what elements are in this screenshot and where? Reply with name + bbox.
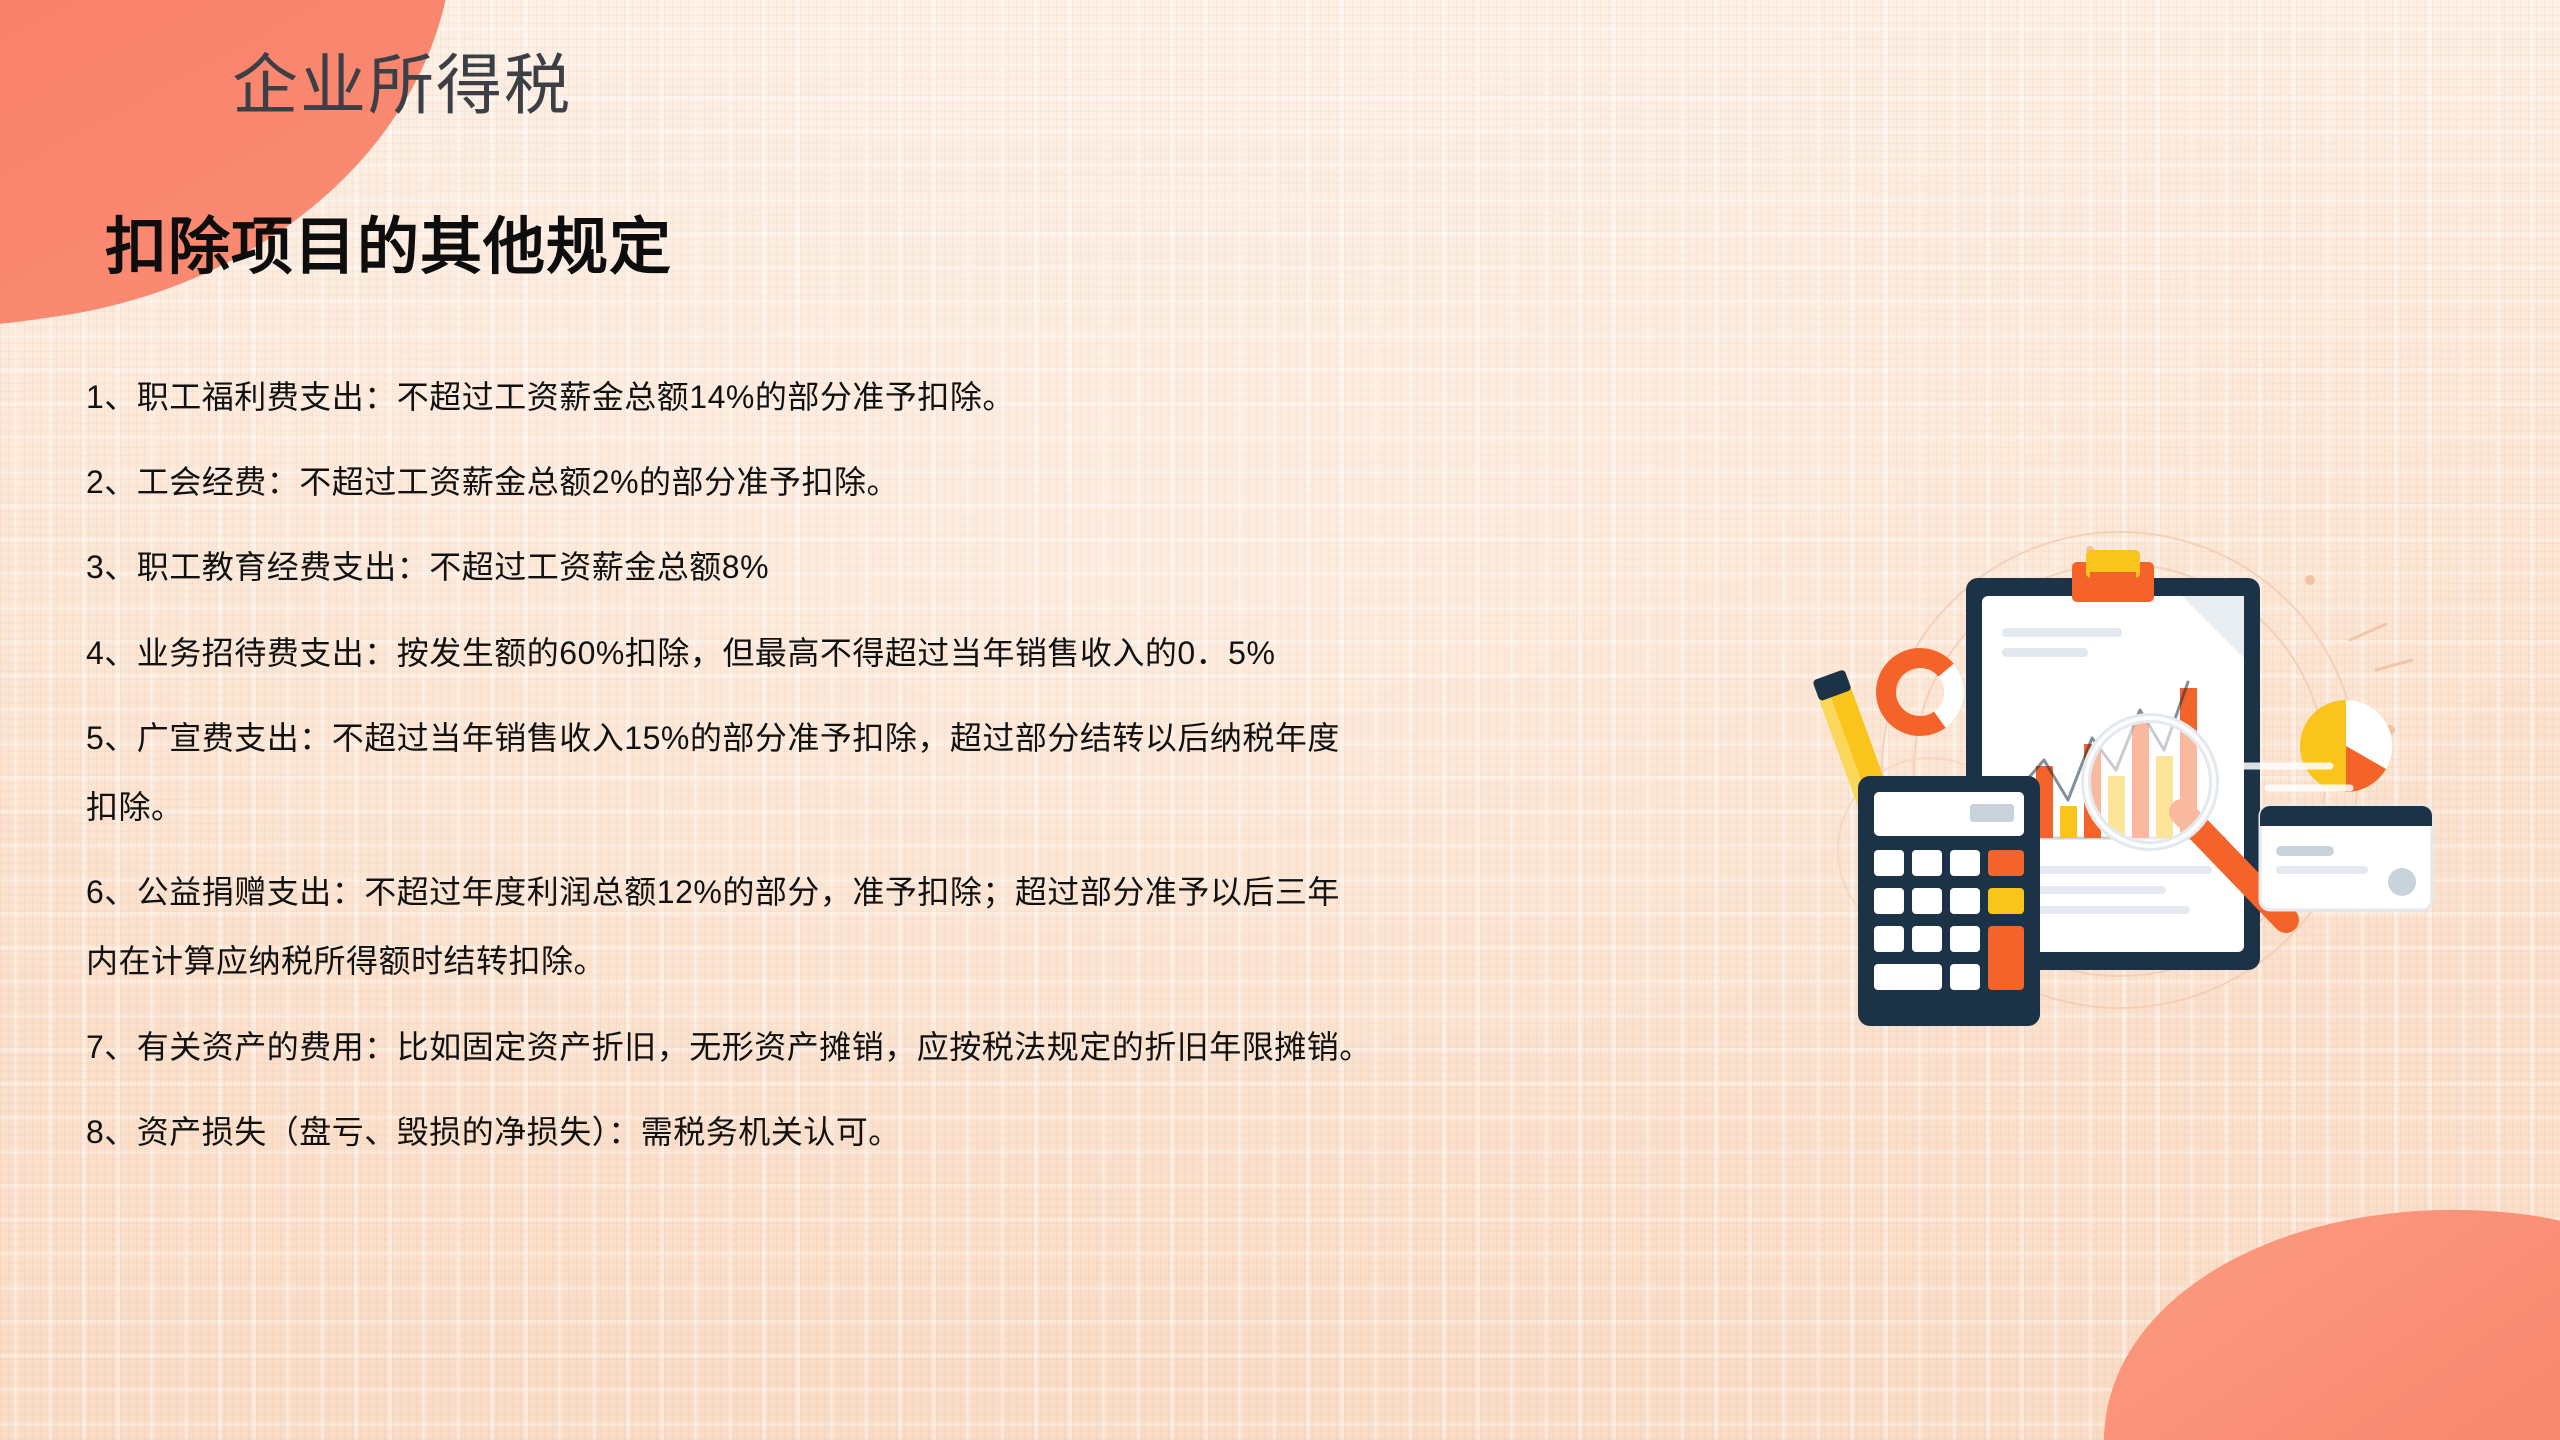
list-item-continuation: 扣除。 — [86, 778, 1786, 837]
list-item-continuation: 内在计算应纳税所得额时结转扣除。 — [86, 932, 1786, 991]
pie-chart-icon — [2300, 700, 2392, 792]
list-item: 6、公益捐赠支出：不超过年度利润总额12%的部分，准予扣除；超过部分准予以后三年 — [86, 863, 1786, 922]
list-item: 5、广宣费支出：不超过当年销售收入15%的部分准予扣除，超过部分结转以后纳税年度 — [86, 709, 1786, 768]
list-item: 7、有关资产的费用：比如固定资产折旧，无形资产摊销，应按税法规定的折旧年限摊销。 — [86, 1018, 1786, 1077]
calculator-icon — [1858, 776, 2040, 1026]
list-item: 2、工会经费：不超过工资薪金总额2%的部分准予扣除。 — [86, 453, 1786, 512]
deduction-rules-list: 1、职工福利费支出：不超过工资薪金总额14%的部分准予扣除。 2、工会经费：不超… — [86, 368, 1786, 1188]
slide-subtitle: 扣除项目的其他规定 — [105, 212, 672, 283]
list-item: 1、职工福利费支出：不超过工资薪金总额14%的部分准予扣除。 — [86, 368, 1786, 427]
list-item: 4、业务招待费支出：按发生额的60%扣除，但最高不得超过当年销售收入的0．5% — [86, 624, 1786, 683]
financial-analysis-illustration — [1790, 520, 2450, 1040]
list-item: 3、职工教育经费支出：不超过工资薪金总额8% — [86, 538, 1786, 597]
list-item: 8、资产损失（盘亏、毁损的净损失）：需税务机关认可。 — [86, 1103, 1786, 1162]
slide-title: 企业所得税 — [232, 48, 572, 124]
presentation-slide: 企业所得税 扣除项目的其他规定 1、职工福利费支出：不超过工资薪金总额14%的部… — [0, 0, 2560, 1440]
credit-card-icon — [2260, 806, 2432, 910]
decorative-blob-bottom-right — [2073, 1173, 2560, 1440]
